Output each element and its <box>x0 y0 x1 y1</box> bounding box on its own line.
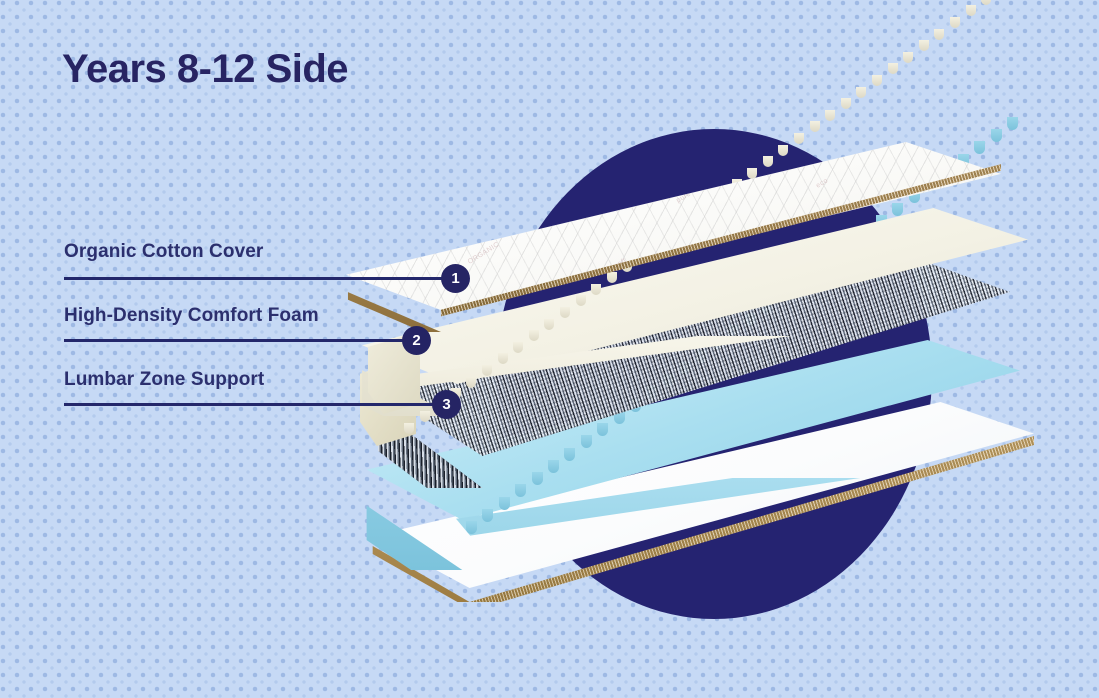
quilt-print-mark: breathe <box>866 217 892 237</box>
comfort-foam-tooth <box>872 75 882 86</box>
quilt-print-mark: cotton <box>542 209 564 226</box>
comfort-foam-tooth <box>825 110 835 121</box>
page-title: Years 8-12 Side <box>62 47 348 92</box>
comfort-foam-tooth <box>981 0 991 5</box>
blue-foam-tooth <box>515 484 526 497</box>
callout-2-leader-line <box>64 339 418 342</box>
comfort-foam-tooth <box>466 377 476 388</box>
blue-foam-tooth <box>482 509 493 522</box>
callout-3-leader-line <box>64 403 448 406</box>
quilt-print-mark: ORGANIC <box>467 241 501 266</box>
comfort-foam-tooth <box>810 121 820 132</box>
comfort-foam-tooth <box>513 342 523 353</box>
comfort-foam-tooth <box>919 40 929 51</box>
comfort-foam-tooth <box>420 411 430 422</box>
blue-foam-tooth <box>1007 117 1018 130</box>
comfort-foam-tooth <box>404 423 414 434</box>
comfort-foam-tooth <box>841 98 851 109</box>
quilt-print-mark: pure <box>675 190 692 204</box>
comfort-foam-tooth <box>903 52 913 63</box>
comfort-foam-tooth <box>934 29 944 40</box>
callout-3-label: Lumbar Zone Support <box>64 369 264 391</box>
callout-2-label: High-Density Comfort Foam <box>64 305 319 327</box>
callout-3-badge[interactable]: 3 <box>432 390 461 419</box>
layer-organic-cotton-cover: ORGANICcottonsoftpurecoverecobreathenatu… <box>346 142 1016 342</box>
callout-1-badge[interactable]: 1 <box>441 264 470 293</box>
mattress-diagram: ORGANICcottonsoftpurecoverecobreathenatu… <box>0 0 1099 698</box>
comfort-foam-tooth <box>482 365 492 376</box>
blue-foam-tooth <box>991 129 1002 142</box>
blue-foam-tooth <box>499 497 510 510</box>
blue-foam-tooth <box>466 521 477 534</box>
callout-1-label: Organic Cotton Cover <box>64 241 263 263</box>
comfort-foam-tooth <box>888 63 898 74</box>
callout-1-leader-line <box>64 277 456 280</box>
quilt-print-mark: natural <box>586 156 610 174</box>
comfort-foam-tooth <box>950 17 960 28</box>
callout-2-badge[interactable]: 2 <box>402 326 431 355</box>
comfort-foam-tooth <box>856 87 866 98</box>
comfort-foam-teeth <box>400 329 1040 449</box>
comfort-foam-tooth <box>966 5 976 16</box>
comfort-foam-tooth <box>498 353 508 364</box>
quilt-print-mark: eco <box>815 177 829 189</box>
